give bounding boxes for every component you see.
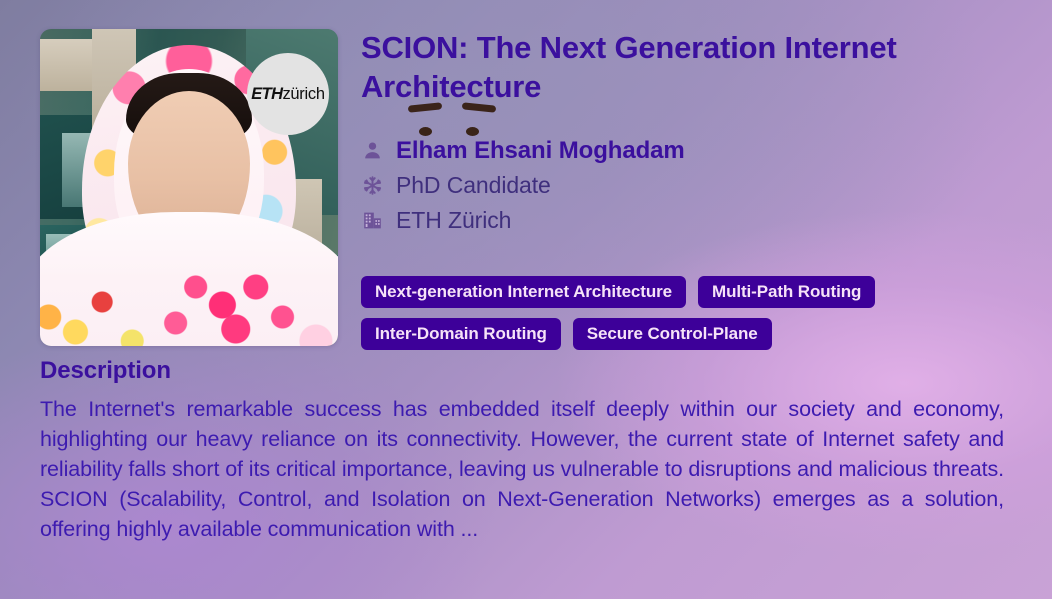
speaker-meta: Elham Ehsani Moghadam PhD Candidate [361, 133, 961, 238]
topic-tag[interactable]: Next-generation Internet Architecture [361, 276, 686, 308]
speaker-affiliation-row: ETH Zürich [361, 203, 961, 238]
description-heading: Description [40, 357, 171, 385]
eth-logo-bold: ETH [251, 85, 282, 103]
speaker-role-row: PhD Candidate [361, 168, 961, 203]
person-icon [361, 139, 384, 162]
speaker-name-row: Elham Ehsani Moghadam [361, 133, 961, 168]
eth-logo-light: zürich [282, 85, 324, 103]
topic-tag-list: Next-generation Internet Architecture Mu… [361, 276, 1033, 350]
page-title: SCION: The Next Generation Internet Arch… [361, 28, 1021, 106]
eth-zurich-logo: ETHzürich [247, 53, 329, 135]
speaker-affiliation: ETH Zürich [396, 207, 511, 234]
topic-tag[interactable]: Multi-Path Routing [698, 276, 875, 308]
building-icon [361, 209, 384, 232]
asterisk-icon [361, 174, 384, 197]
scarf-drape [40, 212, 338, 346]
speaker-role: PhD Candidate [396, 172, 551, 199]
eth-logo-text: ETHzürich [251, 85, 324, 104]
speaker-photo: ETHzürich [40, 29, 338, 346]
description-body: The Internet's remarkable success has em… [40, 394, 1004, 544]
topic-tag[interactable]: Inter-Domain Routing [361, 318, 561, 350]
topic-tag[interactable]: Secure Control-Plane [573, 318, 772, 350]
speaker-name: Elham Ehsani Moghadam [396, 137, 685, 165]
background-slab [40, 39, 96, 91]
speaker-card: ETHzürich SCION: The Next Generation Int… [0, 0, 1052, 599]
